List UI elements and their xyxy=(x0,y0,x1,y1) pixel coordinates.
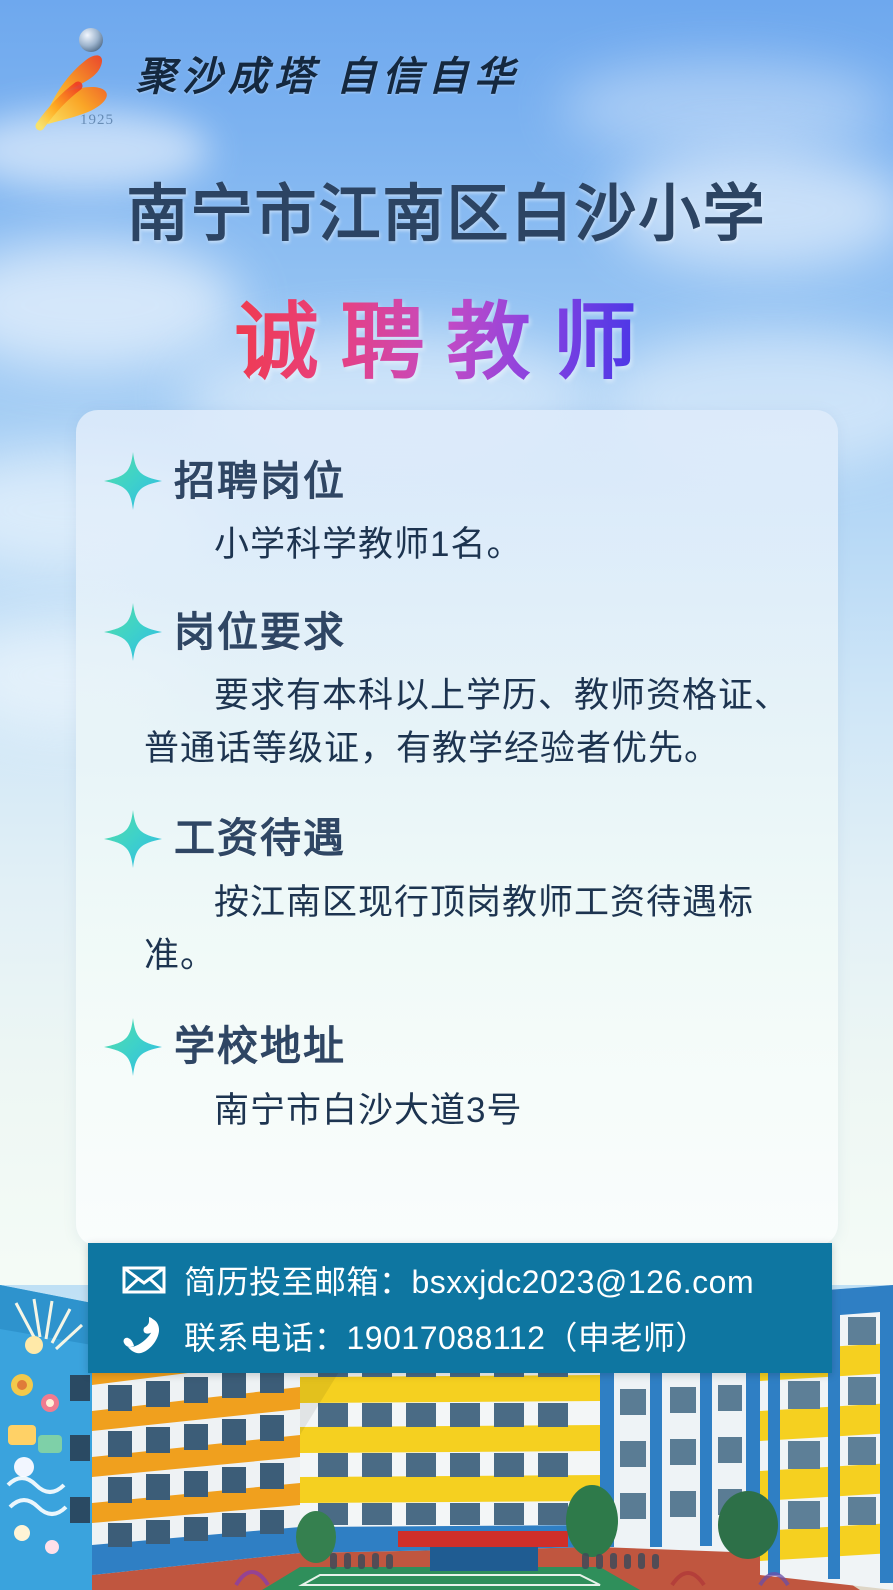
section-heading: 学校地址 xyxy=(174,1026,346,1067)
recruit-headline-text: 诚聘教师 xyxy=(234,295,658,389)
section-body: 要求有本科以上学历、教师资格证、普通话等级证，有教学经验者优先。 xyxy=(76,669,838,775)
recruit-headline: 诚聘教师 xyxy=(0,275,893,396)
section-heading-row: 招聘岗位 xyxy=(76,450,838,512)
section-body: 按江南区现行顶岗教师工资待遇标准。 xyxy=(76,876,838,982)
section-body: 小学科学教师1名。 xyxy=(76,518,838,571)
section-heading-row: 学校地址 xyxy=(76,1016,838,1078)
envelope-icon xyxy=(122,1265,184,1295)
section-salary: 工资待遇 按江南区现行顶岗教师工资待遇标准。 xyxy=(76,808,838,982)
svg-text:1925: 1925 xyxy=(80,112,114,128)
section-school-address: 学校地址 南宁市白沙大道3号 xyxy=(76,1016,838,1137)
section-body: 南宁市白沙大道3号 xyxy=(76,1084,838,1137)
contact-email-text: 简历投至邮箱：bsxxjdc2023@126.com xyxy=(184,1257,754,1303)
section-heading: 招聘岗位 xyxy=(174,461,346,502)
school-emblem-icon: 1925 xyxy=(34,24,130,132)
sparkle-icon xyxy=(102,450,164,512)
contact-bar: 简历投至邮箱：bsxxjdc2023@126.com 联系电话：19017088… xyxy=(88,1243,832,1373)
content-card: 招聘岗位 小学科学教师1名。 岗位要求 要求有本科以上学历、教师资格证、普通话等… xyxy=(76,410,838,1246)
contact-phone-row[interactable]: 联系电话：19017088112（申老师） xyxy=(122,1308,832,1364)
section-heading: 岗位要求 xyxy=(174,612,346,653)
section-job-position: 招聘岗位 小学科学教师1名。 xyxy=(76,450,838,571)
recruitment-poster: 1925 聚沙成塔 自信自华 南宁市江南区白沙小学 诚聘教师 xyxy=(0,0,893,1590)
section-heading-row: 工资待遇 xyxy=(76,808,838,870)
sparkle-icon xyxy=(102,601,164,663)
school-motto: 聚沙成塔 自信自华 xyxy=(136,44,520,102)
section-heading: 工资待遇 xyxy=(174,818,346,859)
sparkle-icon xyxy=(102,1016,164,1078)
poster-header: 1925 聚沙成塔 自信自华 xyxy=(0,0,893,140)
contact-phone-text: 联系电话：19017088112（申老师） xyxy=(184,1313,708,1359)
section-heading-row: 岗位要求 xyxy=(76,601,838,663)
contact-email-row[interactable]: 简历投至邮箱：bsxxjdc2023@126.com xyxy=(122,1252,832,1308)
sparkle-icon xyxy=(102,808,164,870)
phone-icon xyxy=(122,1315,184,1357)
school-name-title: 南宁市江南区白沙小学 xyxy=(0,163,893,253)
section-job-requirements: 岗位要求 要求有本科以上学历、教师资格证、普通话等级证，有教学经验者优先。 xyxy=(76,601,838,775)
